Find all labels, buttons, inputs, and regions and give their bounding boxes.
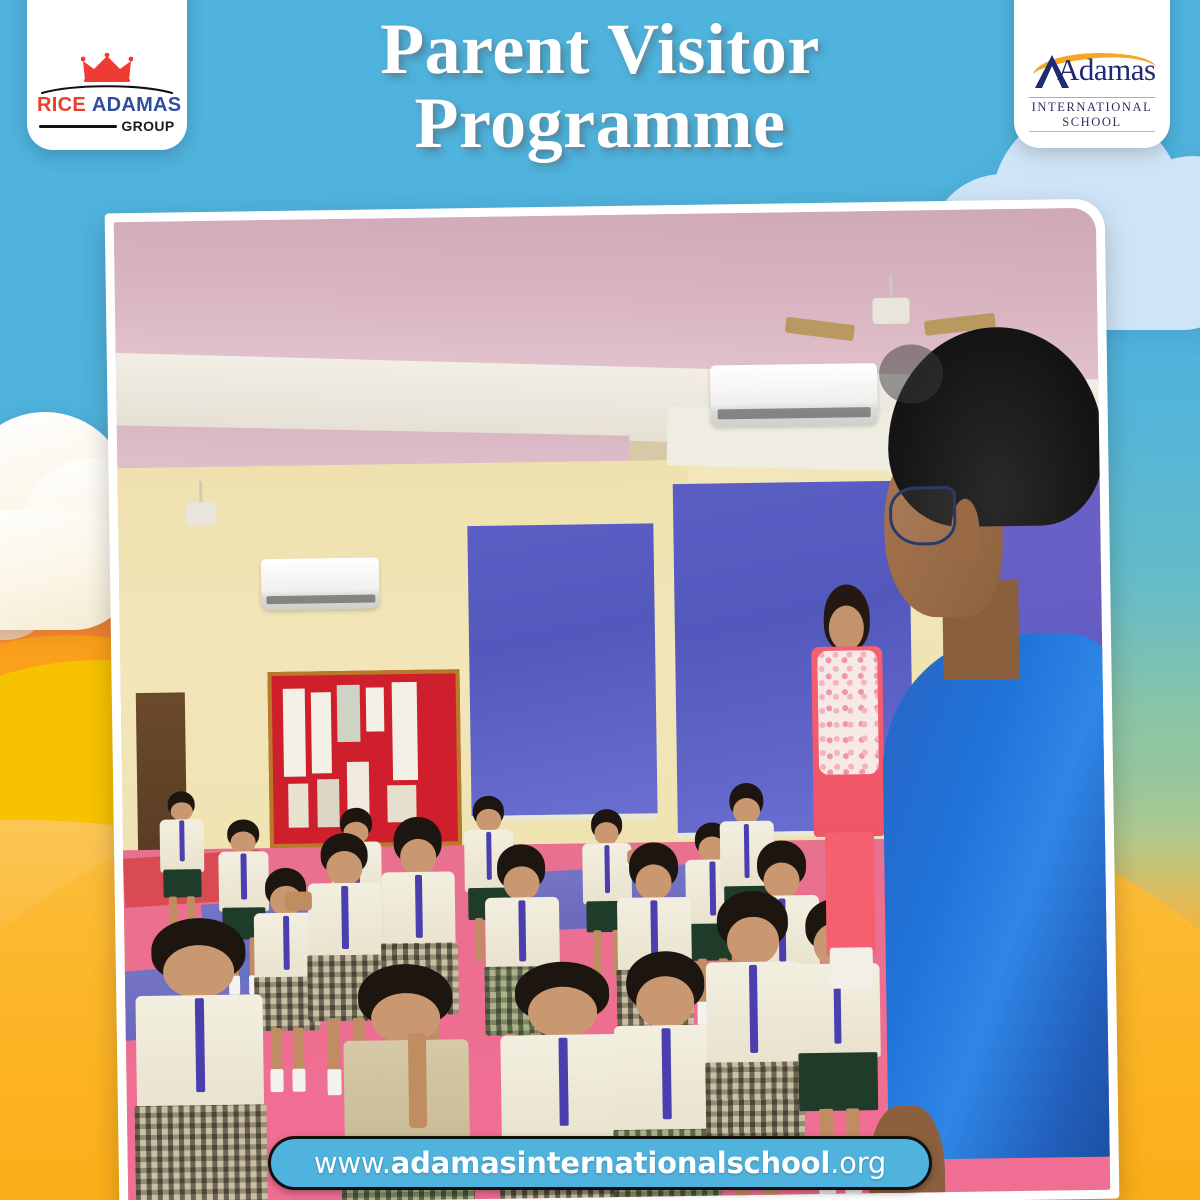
url-domain: adamasinternationalschool bbox=[391, 1146, 830, 1180]
crown-icon bbox=[81, 53, 133, 83]
adamas-word: ADAMAS bbox=[92, 94, 182, 116]
logo-subtitle-international: INTERNATIONAL bbox=[1025, 100, 1159, 114]
rice-adamas-wordmark: RICE ADAMAS bbox=[37, 95, 177, 115]
title-line-2: Programme bbox=[200, 86, 1000, 160]
website-url-text: www.adamasinternationalschool.org bbox=[314, 1146, 886, 1180]
adamas-school-logo-card: Adamas INTERNATIONAL SCHOOL bbox=[1014, 0, 1170, 148]
url-tld: .org bbox=[830, 1146, 886, 1180]
rice-adamas-logo-card: RICE ADAMAS GROUP bbox=[27, 0, 187, 150]
group-row: GROUP bbox=[37, 118, 177, 134]
url-prefix: www. bbox=[314, 1146, 391, 1180]
website-url-bar[interactable]: www.adamasinternationalschool.org bbox=[268, 1136, 932, 1190]
logo-divider-top bbox=[1029, 97, 1155, 98]
window-blind-left bbox=[467, 524, 658, 821]
logo-divider-bottom bbox=[1029, 131, 1155, 132]
poster-canvas: Parent Visitor Programme bbox=[0, 0, 1200, 1200]
arc-swoosh-icon bbox=[40, 84, 174, 94]
divider-rule bbox=[39, 125, 117, 128]
logo-subtitle-school: SCHOOL bbox=[1025, 115, 1159, 129]
child-figure bbox=[134, 917, 267, 1200]
rice-word: RICE bbox=[37, 94, 86, 116]
group-word: GROUP bbox=[121, 118, 174, 134]
ceiling-fan-left bbox=[162, 481, 242, 571]
adamas-international-school-logo: Adamas INTERNATIONAL SCHOOL bbox=[1025, 50, 1159, 132]
man-in-blue-figure bbox=[872, 325, 1111, 1200]
page-title: Parent Visitor Programme bbox=[200, 12, 1000, 160]
adamas-wordmark: Adamas bbox=[1025, 54, 1159, 85]
rice-adamas-group-logo: RICE ADAMAS GROUP bbox=[37, 53, 177, 134]
air-conditioner-left bbox=[261, 557, 380, 610]
classroom-photo bbox=[114, 208, 1110, 1200]
photo-frame bbox=[105, 199, 1120, 1200]
title-line-1: Parent Visitor bbox=[380, 9, 820, 89]
adamas-mark: Adamas bbox=[1025, 50, 1159, 96]
